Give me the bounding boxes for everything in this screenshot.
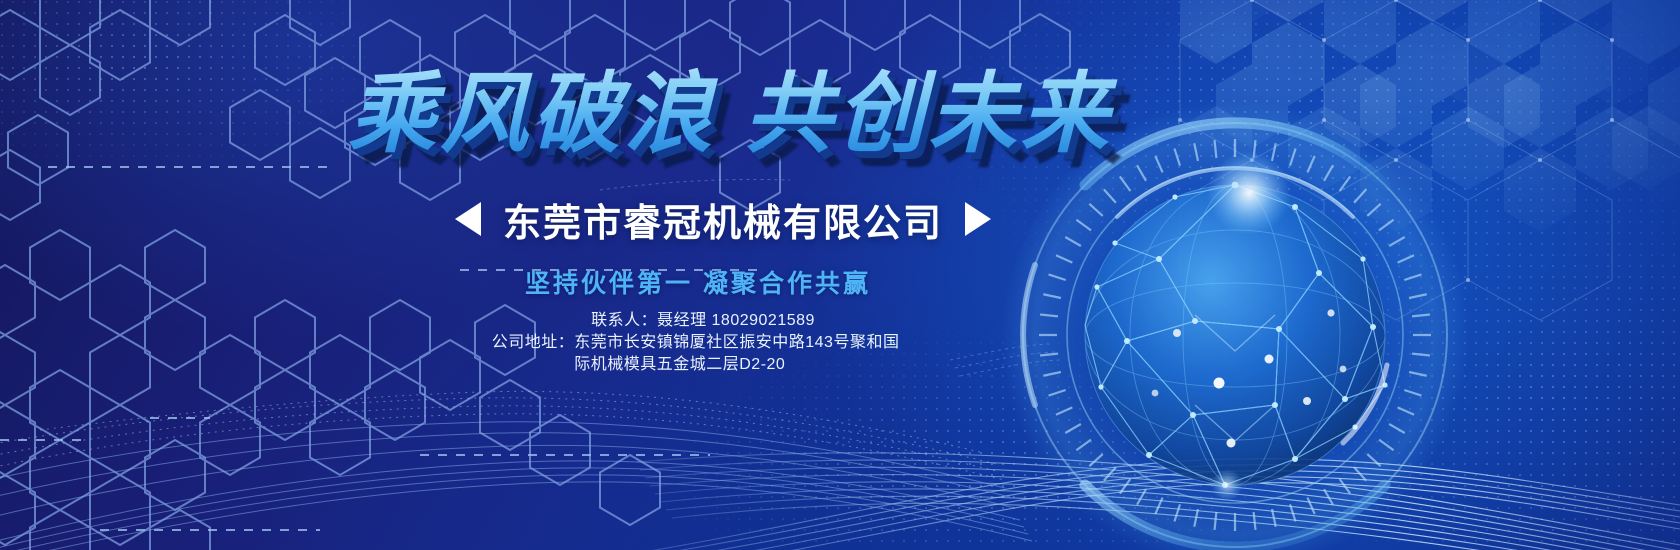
company-address-line: 公司地址： 东莞市长安镇锦厦社区振安中路143号聚和国际机械模具五金城二层D2-… — [0, 332, 1406, 376]
contact-person-line: 联系人：聂经理 18029021589 — [0, 310, 1406, 332]
address-value: 东莞市长安镇锦厦社区振安中路143号聚和国际机械模具五金城二层D2-20 — [574, 332, 914, 376]
promotional-banner: 乘风破浪 共创未来 东莞市睿冠机械有限公司 坚持伙伴第一 凝聚合作共赢 联系人：… — [0, 0, 1680, 550]
left-triangle-icon — [455, 202, 481, 236]
main-title-wrapper: 乘风破浪 共创未来 — [348, 64, 1188, 164]
company-name: 东莞市睿冠机械有限公司 — [503, 192, 943, 247]
company-name-row: 东莞市睿冠机械有限公司 — [455, 192, 991, 246]
address-label: 公司地址： — [492, 332, 575, 376]
banner-text-content: 乘风破浪 共创未来 东莞市睿冠机械有限公司 坚持伙伴第一 凝聚合作共赢 联系人：… — [0, 0, 1680, 550]
page-title: 乘风破浪 共创未来 — [348, 64, 1188, 164]
slogan-text: 坚持伙伴第一 凝聚合作共赢 — [0, 264, 1396, 300]
contact-info-block: 联系人：聂经理 18029021589 公司地址： 东莞市长安镇锦厦社区振安中路… — [0, 310, 1406, 376]
right-triangle-icon — [965, 202, 991, 236]
